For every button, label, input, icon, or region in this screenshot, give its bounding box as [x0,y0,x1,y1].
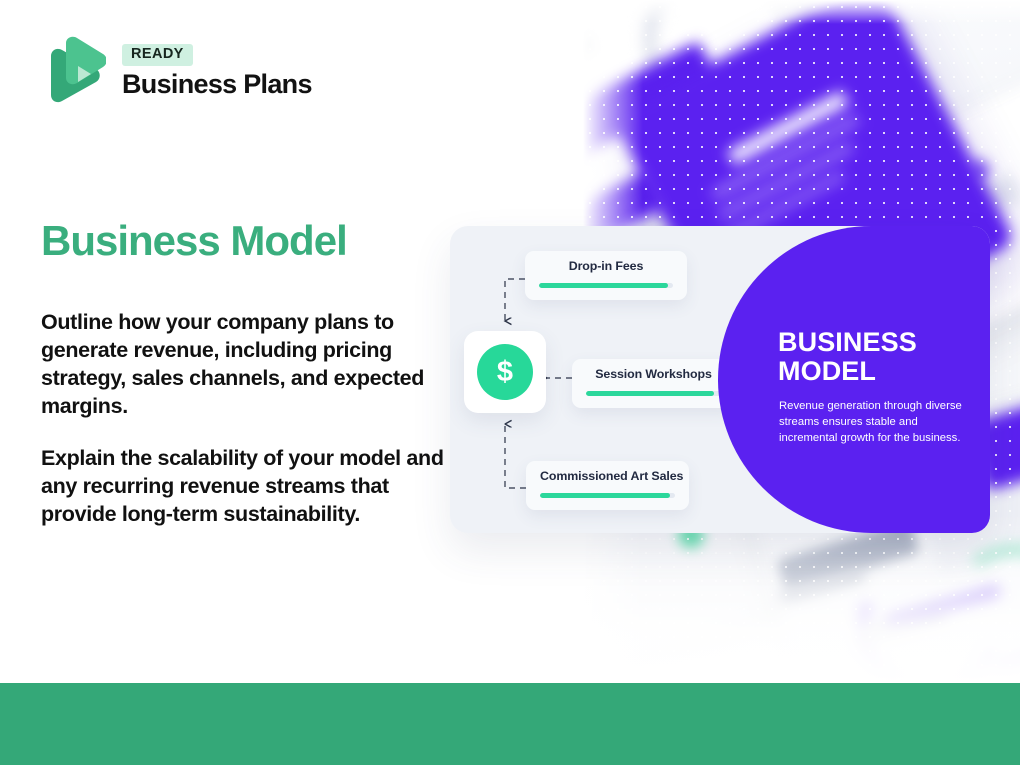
body-paragraph-1: Outline how your company plans to genera… [41,308,441,421]
progress-track [540,493,675,498]
business-model-card: $ Drop-in Fees Session Workshops Commiss… [450,226,990,533]
brand-name: Business Plans [122,70,312,100]
svg-text:$: $ [497,356,513,388]
dollar-sign-icon: $ [477,344,533,400]
purple-panel-title: BUSINESS MODEL [778,328,990,386]
body-paragraph-2: Explain the scalability of your model an… [41,444,451,528]
revenue-stream-label: Commissioned Art Sales [540,470,675,484]
progress-track [586,391,721,396]
slide-canvas: READY Business Plans Business Model Outl… [0,0,1020,765]
purple-panel-content: BUSINESS MODEL Revenue generation throug… [718,226,990,533]
progress-track [539,283,673,288]
brand-logo: READY Business Plans [41,36,312,108]
play-triangle-logo-icon [41,36,106,108]
revenue-stream-item[interactable]: Session Workshops [572,359,735,408]
revenue-stream-item[interactable]: Drop-in Fees [525,251,687,300]
footer-bar [0,683,1020,765]
revenue-stream-item[interactable]: Commissioned Art Sales [526,461,689,510]
revenue-stream-label: Session Workshops [586,368,721,382]
progress-fill [540,493,670,498]
revenue-hub: $ [464,331,546,413]
background-fade-top [583,0,1020,24]
brand-text-block: READY Business Plans [122,44,312,99]
progress-fill [586,391,714,396]
purple-panel-description: Revenue generation through diverse strea… [779,398,967,446]
progress-fill [539,283,668,288]
revenue-stream-label: Drop-in Fees [539,260,673,274]
page-title: Business Model [41,218,347,264]
background-fade-bottom [583,513,1020,683]
ready-badge: READY [122,44,193,66]
